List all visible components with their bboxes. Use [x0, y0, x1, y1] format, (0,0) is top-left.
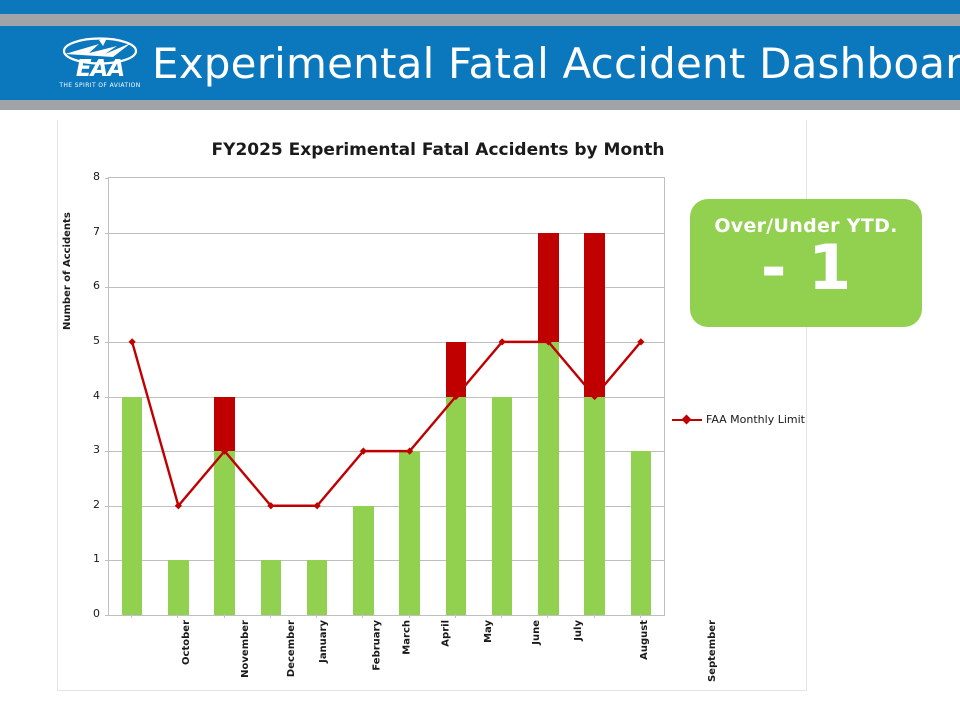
bar-over-limit	[538, 233, 558, 342]
bar-group	[353, 178, 373, 615]
header-top-stripe	[0, 0, 960, 14]
bar-group	[492, 178, 512, 615]
bar-over-limit	[584, 233, 604, 397]
bar-within-limit	[353, 506, 373, 615]
x-tick-mark	[177, 614, 178, 618]
bar-over-limit	[446, 342, 466, 397]
x-tick-mark	[224, 614, 225, 618]
chart-legend: FAA Monthly Limit	[672, 413, 805, 426]
bar-group	[446, 178, 466, 615]
bar-group	[538, 178, 558, 615]
x-tick-mark	[409, 614, 410, 618]
page-title: Experimental Fatal Accident Dashboard	[152, 28, 960, 98]
bar-within-limit	[168, 560, 188, 615]
y-tick-label: 5	[74, 334, 100, 347]
bar-within-limit	[307, 560, 327, 615]
x-tick-label: August	[639, 620, 650, 660]
y-tick-label: 6	[74, 279, 100, 292]
y-tick-label: 4	[74, 389, 100, 402]
header-divider-top	[0, 14, 960, 26]
x-tick-label: February	[372, 620, 383, 671]
x-tick-mark	[316, 614, 317, 618]
bar-within-limit	[584, 397, 604, 616]
x-tick-label: May	[483, 620, 494, 643]
x-tick-label: January	[318, 620, 329, 663]
legend-label-faa-monthly-limit: FAA Monthly Limit	[706, 413, 805, 426]
bar-within-limit	[492, 397, 512, 616]
bar-within-limit	[631, 451, 651, 615]
x-tick-mark	[640, 614, 641, 618]
x-tick-mark	[362, 614, 363, 618]
x-tick-mark	[547, 614, 548, 618]
x-tick-label: June	[531, 620, 542, 645]
bar-group	[168, 178, 188, 615]
bar-group	[631, 178, 651, 615]
y-tick-label: 3	[74, 443, 100, 456]
bar-group	[584, 178, 604, 615]
x-tick-label: April	[440, 620, 451, 647]
bar-group	[261, 178, 281, 615]
x-tick-mark	[131, 614, 132, 618]
chart-plot-area	[108, 177, 665, 616]
bar-within-limit	[261, 560, 281, 615]
bar-within-limit	[538, 342, 558, 615]
header-divider-bottom	[0, 100, 960, 110]
bar-group	[307, 178, 327, 615]
bar-group	[399, 178, 419, 615]
x-tick-label: September	[707, 620, 718, 682]
x-tick-label: July	[573, 620, 584, 641]
y-tick-mark	[105, 615, 109, 616]
bar-group	[122, 178, 142, 615]
bar-within-limit	[399, 451, 419, 615]
y-axis-label: Number of Accidents	[62, 212, 73, 330]
bar-within-limit	[214, 451, 234, 615]
x-tick-label: March	[402, 620, 413, 655]
x-tick-label: November	[240, 620, 251, 678]
legend-line-diamond-icon	[672, 415, 702, 425]
y-tick-label: 8	[74, 170, 100, 183]
eaa-logo: EAA THE SPIRIT OF AVIATION	[55, 34, 145, 92]
x-tick-mark	[455, 614, 456, 618]
badge-value: - 1	[761, 235, 851, 300]
svg-text:THE SPIRIT OF AVIATION: THE SPIRIT OF AVIATION	[58, 82, 140, 89]
dashboard-page: EAA THE SPIRIT OF AVIATION Experimental …	[0, 0, 960, 720]
bar-within-limit	[122, 397, 142, 616]
x-tick-mark	[270, 614, 271, 618]
over-under-ytd-badge: Over/Under YTD. - 1	[690, 199, 922, 327]
chart-title: FY2025 Experimental Fatal Accidents by M…	[108, 140, 768, 160]
x-tick-mark	[594, 614, 595, 618]
y-tick-label: 2	[74, 498, 100, 511]
bar-group	[214, 178, 234, 615]
bar-over-limit	[214, 397, 234, 452]
svg-text:EAA: EAA	[76, 56, 124, 82]
y-tick-label: 0	[74, 607, 100, 620]
y-tick-label: 7	[74, 225, 100, 238]
x-tick-label: December	[286, 620, 297, 677]
y-tick-label: 1	[74, 552, 100, 565]
x-tick-label: October	[181, 620, 192, 665]
x-tick-mark	[501, 614, 502, 618]
bar-within-limit	[446, 397, 466, 616]
bar-series	[109, 178, 664, 615]
